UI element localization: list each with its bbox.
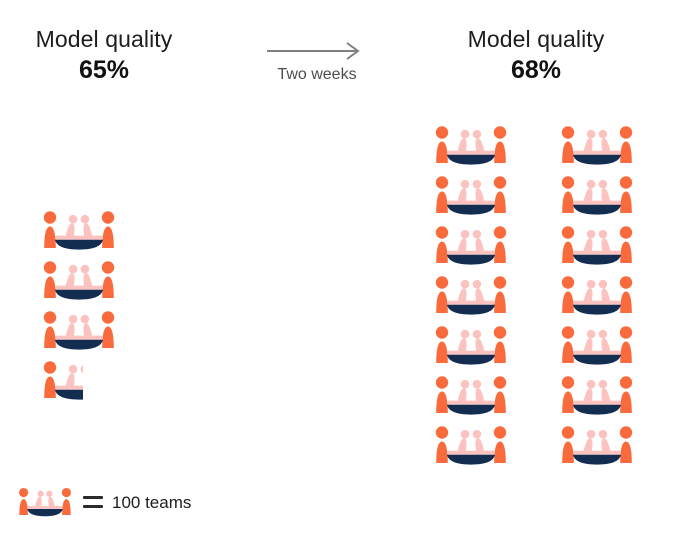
- pictogram-row: [432, 375, 636, 417]
- team-icon-graphic: [558, 125, 636, 167]
- team-icon-graphic: [558, 325, 636, 367]
- team-icon-partial: [40, 360, 83, 402]
- team-icon-graphic: [40, 260, 118, 302]
- team-icon: [432, 425, 510, 467]
- team-icon: [432, 325, 510, 367]
- team-icon-graphic: [558, 425, 636, 467]
- pictogram-row: [432, 175, 636, 217]
- team-icon-graphic: [432, 125, 510, 167]
- team-icon-graphic: [432, 425, 510, 467]
- pictogram-row-partial: [40, 360, 118, 402]
- team-icon-graphic: [432, 375, 510, 417]
- team-icon-graphic: [432, 275, 510, 317]
- team-icon-graphic: [558, 375, 636, 417]
- before-pictogram-group: [40, 210, 118, 410]
- team-icon-graphic: [40, 310, 118, 352]
- team-icon: [558, 225, 636, 267]
- team-icon: [432, 175, 510, 217]
- equals-bar-bottom: [83, 505, 103, 508]
- team-icon-graphic: [558, 275, 636, 317]
- team-icon: [558, 275, 636, 317]
- team-icon-graphic: [16, 487, 74, 518]
- pictogram-row: [432, 425, 636, 467]
- pictogram-infographic: Model quality 65% Two weeks Model qualit…: [0, 0, 677, 535]
- pictogram-row: [432, 275, 636, 317]
- team-icon: [432, 125, 510, 167]
- team-icon: [432, 375, 510, 417]
- team-icon: [558, 125, 636, 167]
- after-metric-label: Model quality: [438, 26, 634, 53]
- team-icon-graphic: [558, 175, 636, 217]
- team-icon: [558, 425, 636, 467]
- team-icon: [40, 210, 118, 252]
- equals-bar-top: [83, 496, 103, 499]
- equals-icon: [83, 496, 103, 509]
- pictogram-row: [432, 225, 636, 267]
- team-icon-graphic: [432, 225, 510, 267]
- team-icon: [558, 375, 636, 417]
- team-icon: [40, 260, 118, 302]
- before-metric-value: 65%: [6, 56, 202, 86]
- team-icon: [558, 325, 636, 367]
- transition-group: Two weeks: [262, 40, 372, 84]
- pictogram-row: [432, 125, 636, 167]
- pictogram-row: [40, 210, 118, 252]
- pictogram-row: [40, 260, 118, 302]
- team-icon: [432, 275, 510, 317]
- arrow-right-icon: [267, 40, 367, 62]
- before-panel-heading: Model quality 65%: [6, 26, 202, 86]
- pictogram-row: [432, 325, 636, 367]
- team-icon: [432, 225, 510, 267]
- team-icon-graphic: [40, 210, 118, 252]
- team-icon: [558, 175, 636, 217]
- after-panel-heading: Model quality 68%: [438, 26, 634, 86]
- team-icon-graphic: [432, 325, 510, 367]
- before-metric-label: Model quality: [6, 26, 202, 53]
- team-icon-graphic: [558, 225, 636, 267]
- team-icon: [40, 310, 118, 352]
- after-pictogram-group: [432, 125, 636, 475]
- legend-label: 100 teams: [112, 493, 191, 513]
- team-icon-graphic: [40, 360, 83, 402]
- transition-caption: Two weeks: [262, 66, 372, 84]
- team-icon-graphic: [432, 175, 510, 217]
- legend-team-icon: [16, 487, 74, 518]
- legend: 100 teams: [16, 487, 191, 518]
- pictogram-row: [40, 310, 118, 352]
- after-metric-value: 68%: [438, 56, 634, 86]
